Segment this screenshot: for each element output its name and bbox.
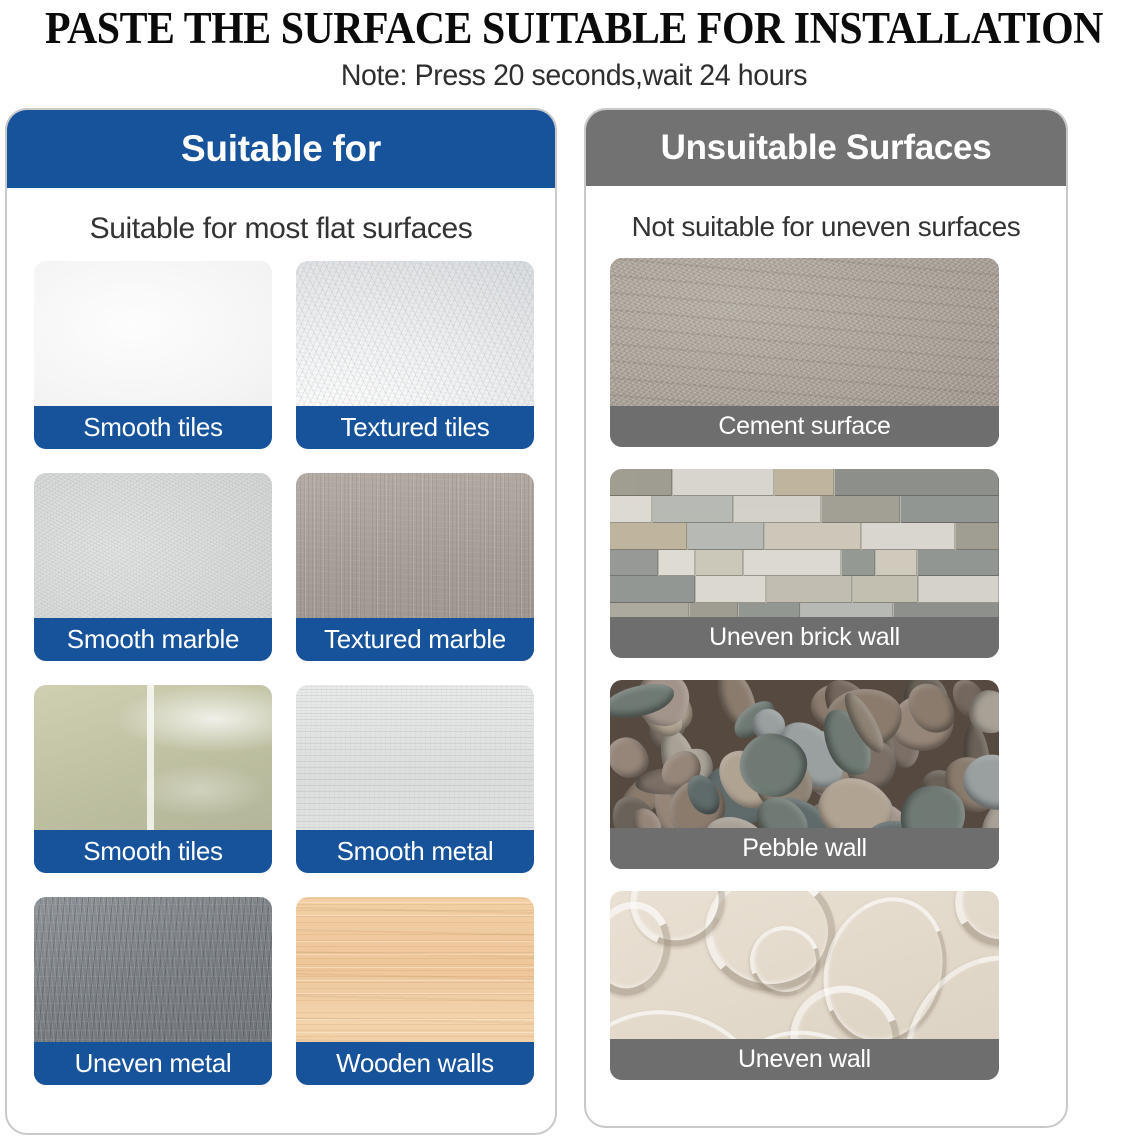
suitable-swatch: Textured tiles <box>296 261 534 449</box>
unsuitable-swatch-list: Cement surfaceUneven brick wallPebble wa… <box>586 258 1066 1080</box>
unsuitable-panel: Unsuitable Surfaces Not suitable for une… <box>584 108 1068 1128</box>
unsuitable-swatch: Cement surface <box>610 258 999 447</box>
suitable-swatch-caption: Smooth marble <box>34 618 272 661</box>
page-note: Note: Press 20 seconds,wait 24 hours <box>29 56 1120 96</box>
suitable-swatch: Smooth metal <box>296 685 534 873</box>
page-title: PASTE THE SURFACE SUITABLE FOR INSTALLAT… <box>40 0 1108 52</box>
unsuitable-swatch: Pebble wall <box>610 680 999 869</box>
unsuitable-swatch-caption: Pebble wall <box>610 828 999 869</box>
suitable-swatch: Smooth tiles <box>34 685 272 873</box>
suitable-swatch: Smooth tiles <box>34 261 272 449</box>
suitable-swatch: Textured marble <box>296 473 534 661</box>
suitable-swatch-caption: Smooth tiles <box>34 830 272 873</box>
suitable-swatch-caption: Textured marble <box>296 618 534 661</box>
suitable-panel-heading: Suitable for <box>7 110 555 188</box>
suitable-swatch: Smooth marble <box>34 473 272 661</box>
suitable-swatch-caption: Uneven metal <box>34 1042 272 1085</box>
suitable-swatch-grid: Smooth tilesTextured tilesSmooth marbleT… <box>7 261 555 1085</box>
unsuitable-swatch-caption: Cement surface <box>610 406 999 447</box>
unsuitable-swatch: Uneven wall <box>610 891 999 1080</box>
unsuitable-swatch-caption: Uneven wall <box>610 1039 999 1080</box>
infographic-page: PASTE THE SURFACE SUITABLE FOR INSTALLAT… <box>0 0 1148 1143</box>
unsuitable-swatch-caption: Uneven brick wall <box>610 617 999 658</box>
suitable-swatch-caption: Wooden walls <box>296 1042 534 1085</box>
suitable-panel-subheading: Suitable for most flat surfaces <box>7 188 555 261</box>
panels-container: Suitable for Suitable for most flat surf… <box>0 108 1148 1138</box>
suitable-panel: Suitable for Suitable for most flat surf… <box>5 108 557 1135</box>
unsuitable-panel-subheading: Not suitable for uneven surfaces <box>586 186 1066 258</box>
suitable-swatch: Wooden walls <box>296 897 534 1085</box>
unsuitable-panel-heading: Unsuitable Surfaces <box>586 110 1066 186</box>
suitable-swatch-caption: Smooth metal <box>296 830 534 873</box>
suitable-swatch-caption: Textured tiles <box>296 406 534 449</box>
suitable-swatch-caption: Smooth tiles <box>34 406 272 449</box>
suitable-swatch: Uneven metal <box>34 897 272 1085</box>
unsuitable-swatch: Uneven brick wall <box>610 469 999 658</box>
